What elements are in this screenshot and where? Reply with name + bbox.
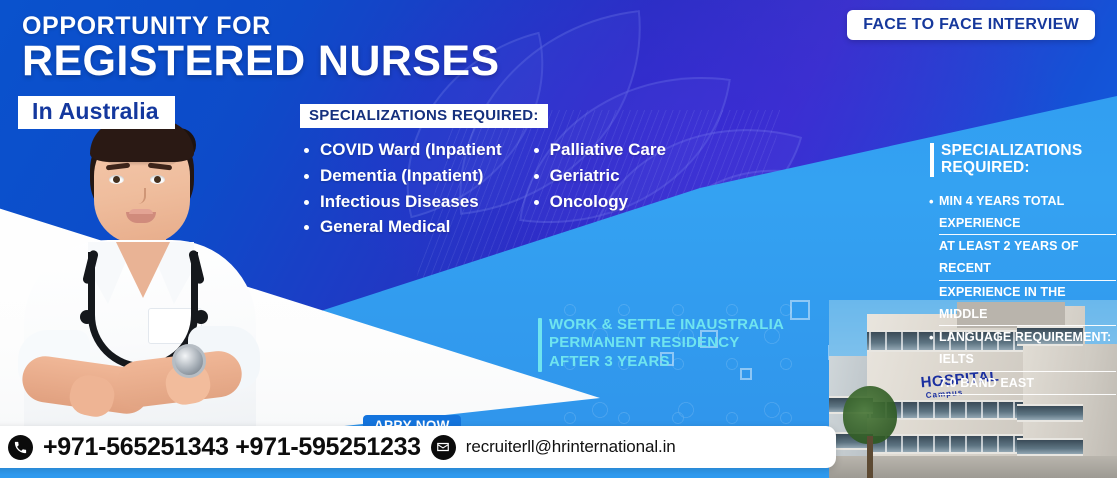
list-item: Palliative Care	[530, 137, 666, 163]
list-item: Infectious Diseases	[300, 189, 502, 215]
requirement-line: MIN 4 YEARS TOTAL EXPERIENCE	[939, 190, 1116, 236]
requirement-line: 7.0 BAND EAST	[939, 372, 1116, 395]
requirement-line: EXPERIENCE IN THE MIDDLE	[939, 281, 1116, 327]
requirement-line: LANGUAGE REQUIREMENT: IELTS	[939, 326, 1116, 372]
list-item: Oncology	[530, 189, 666, 215]
page-title: REGISTERED NURSES	[22, 40, 500, 83]
list-item: EXPERIENCE IN THE MIDDLE	[930, 281, 1110, 327]
phone-icon	[8, 435, 33, 460]
email-address[interactable]: recruiterll@hrinternational.in	[466, 437, 676, 457]
requirements-heading-line-1: SPECIALIZATIONS	[941, 142, 1082, 159]
recruitment-banner: HOSPITAL Campus OPPORTUNITY FOR REGISTER…	[0, 0, 1117, 478]
headline-eyebrow: OPPORTUNITY FOR	[22, 14, 271, 39]
list-item: Dementia (Inpatient)	[300, 163, 502, 189]
requirements-heading-line-2: REQUIRED:	[941, 159, 1030, 176]
work-settle-line-1: WORK & SETTLE INAUSTRALIA	[549, 316, 784, 333]
phone-numbers[interactable]: +971-565251343 +971-595251233	[43, 433, 421, 462]
work-settle-block: WORK & SETTLE INAUSTRALIA PERMANENT RESI…	[538, 316, 784, 371]
stethoscope-icon	[172, 344, 206, 378]
specializations-column-2: Palliative Care Geriatric Oncology	[530, 137, 666, 240]
list-item: Geriatric	[530, 163, 666, 189]
list-item: General Medical	[300, 214, 502, 240]
work-settle-line-3: AFTER 3 YEARS	[549, 353, 670, 370]
list-item: LANGUAGE REQUIREMENT: IELTS	[930, 326, 1110, 372]
list-item: COVID Ward (Inpatient	[300, 137, 502, 163]
mail-icon	[431, 435, 456, 460]
specializations-heading: SPECIALIZATIONS REQUIRED:	[300, 104, 548, 128]
requirement-line: AT LEAST 2 YEARS OF RECENT	[939, 235, 1116, 281]
requirements-heading: SPECIALIZATIONS REQUIRED:	[930, 142, 1110, 177]
work-settle-line-2: PERMANENT RESIDENCY	[549, 334, 740, 351]
nurse-photo	[16, 112, 266, 442]
tree-decoration	[843, 386, 897, 478]
list-item: AT LEAST 2 YEARS OF RECENT	[930, 235, 1110, 281]
requirements-list: MIN 4 YEARS TOTAL EXPERIENCE AT LEAST 2 …	[930, 190, 1110, 395]
location-badge: In Australia	[18, 96, 175, 129]
specializations-column-1: COVID Ward (Inpatient Dementia (Inpatien…	[300, 137, 502, 240]
requirements-block: SPECIALIZATIONS REQUIRED: MIN 4 YEARS TO…	[930, 142, 1110, 395]
contact-bar: +971-565251343 +971-595251233 recruiterl…	[0, 426, 836, 468]
list-item: MIN 4 YEARS TOTAL EXPERIENCE	[930, 190, 1110, 236]
list-item: 7.0 BAND EAST	[930, 372, 1110, 395]
face-to-face-badge: FACE TO FACE INTERVIEW	[847, 10, 1095, 40]
specializations-block: SPECIALIZATIONS REQUIRED: COVID Ward (In…	[300, 104, 720, 240]
bottom-accent-strip	[0, 468, 829, 478]
